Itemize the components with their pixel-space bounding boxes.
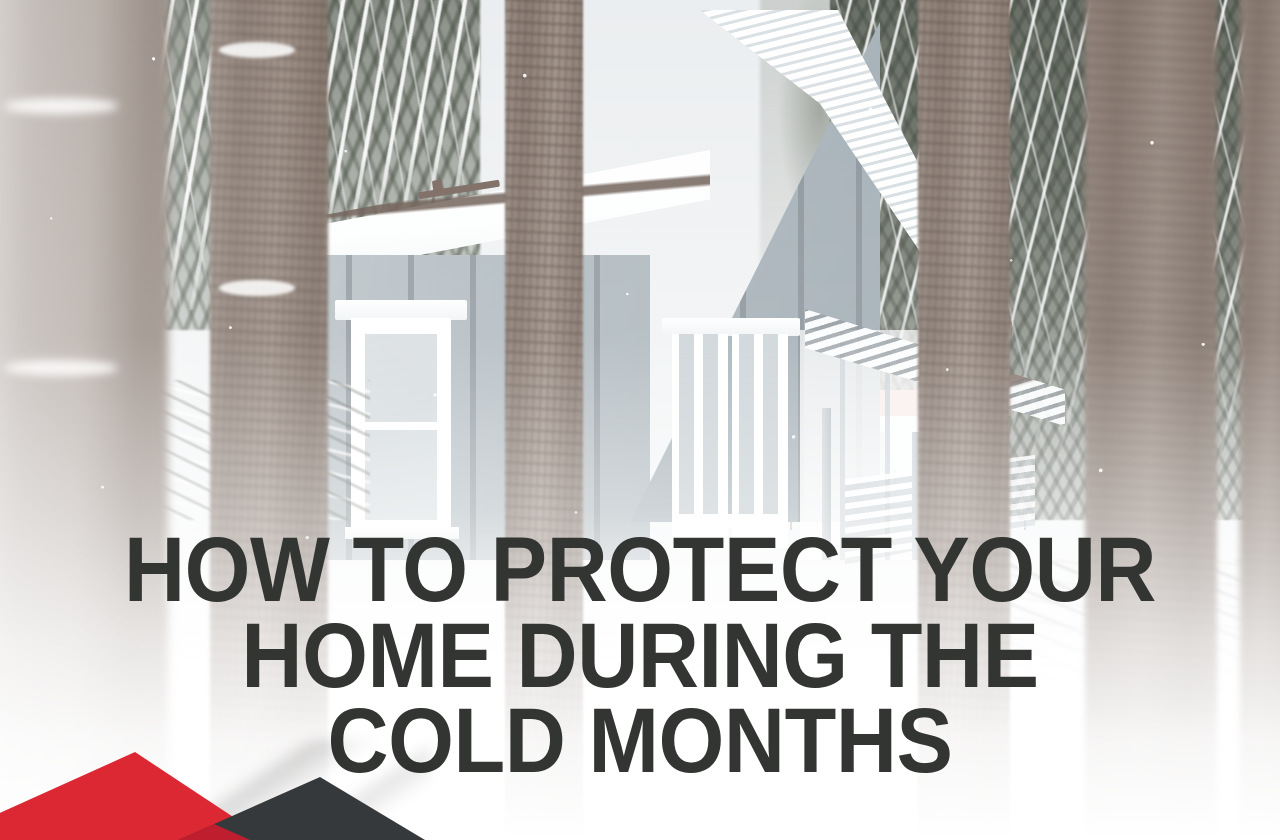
logo-icon [0, 740, 430, 840]
door-glass-pane [679, 334, 694, 520]
window-mullion [365, 422, 437, 430]
snow-on-trunk [219, 42, 295, 58]
a-frame-cabin [300, 0, 940, 560]
door-glass-pane [703, 334, 718, 520]
snow-on-trunk [219, 280, 295, 296]
poster: HOW TO PROTECT YOUR HOME DURING THE COLD… [0, 0, 1280, 840]
roof-vent-cap [432, 179, 444, 196]
window-head-trim [335, 300, 467, 320]
snow-on-trunk [4, 98, 118, 114]
mountain-peaks-logo [0, 740, 430, 840]
snow-on-trunk [4, 360, 118, 376]
headline-line-1: HOW TO PROTECT YOUR [79, 528, 1201, 614]
door-glass-pane [763, 334, 778, 520]
headline-line-2: HOME DURING THE [79, 614, 1201, 700]
door-glass-pane [739, 334, 754, 520]
